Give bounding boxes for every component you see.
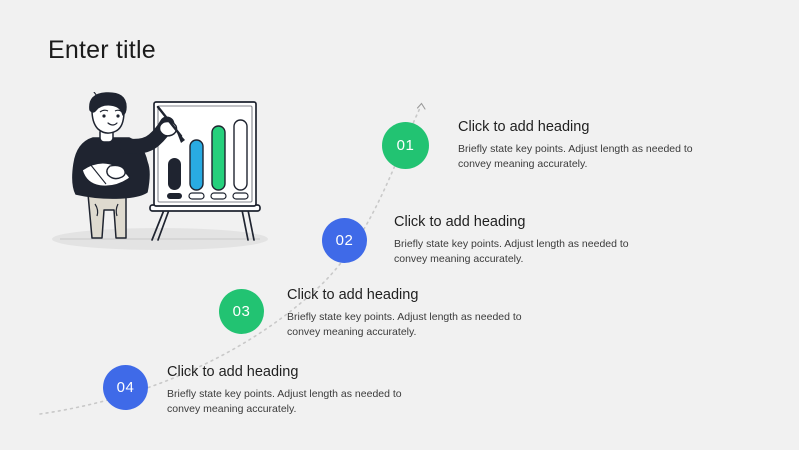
step-number-03: 03	[233, 303, 251, 320]
chart-bar-2	[190, 140, 203, 190]
person-hand-left	[107, 165, 125, 178]
step-number-04: 04	[117, 379, 135, 396]
slide-canvas: Enter title	[0, 0, 799, 450]
step-content-03: Click to add heading Briefly state key p…	[287, 287, 539, 340]
chart-bar-3	[212, 126, 225, 190]
step-number-02: 02	[336, 232, 354, 249]
step-content-02: Click to add heading Briefly state key p…	[394, 214, 646, 267]
path-arrowhead-icon	[418, 104, 426, 110]
step-content-04: Click to add heading Briefly state key p…	[167, 364, 419, 417]
illustration-person-presenting	[48, 92, 272, 252]
step-body-03[interactable]: Briefly state key points. Adjust length …	[287, 310, 539, 340]
step-body-01[interactable]: Briefly state key points. Adjust length …	[458, 142, 710, 172]
step-number-01: 01	[397, 137, 415, 154]
chart-base-1	[167, 193, 182, 199]
step-body-02[interactable]: Briefly state key points. Adjust length …	[394, 237, 646, 267]
step-body-04[interactable]: Briefly state key points. Adjust length …	[167, 387, 419, 417]
chart-bar-1	[168, 158, 181, 190]
chart-base-3	[211, 193, 226, 199]
page-title[interactable]: Enter title	[48, 36, 156, 65]
chart-bar-4	[234, 120, 247, 190]
step-heading-01[interactable]: Click to add heading	[458, 119, 710, 135]
chart-base-2	[189, 193, 204, 199]
eye-left	[102, 114, 105, 117]
step-content-01: Click to add heading Briefly state key p…	[458, 119, 710, 172]
step-heading-03[interactable]: Click to add heading	[287, 287, 539, 303]
step-badge-01[interactable]: 01	[382, 122, 429, 169]
step-badge-04[interactable]: 04	[103, 365, 148, 410]
step-badge-02[interactable]: 02	[322, 218, 367, 263]
step-heading-02[interactable]: Click to add heading	[394, 214, 646, 230]
step-heading-04[interactable]: Click to add heading	[167, 364, 419, 380]
eye-right	[116, 114, 119, 117]
step-badge-03[interactable]: 03	[219, 289, 264, 334]
chart-base-4	[233, 193, 248, 199]
